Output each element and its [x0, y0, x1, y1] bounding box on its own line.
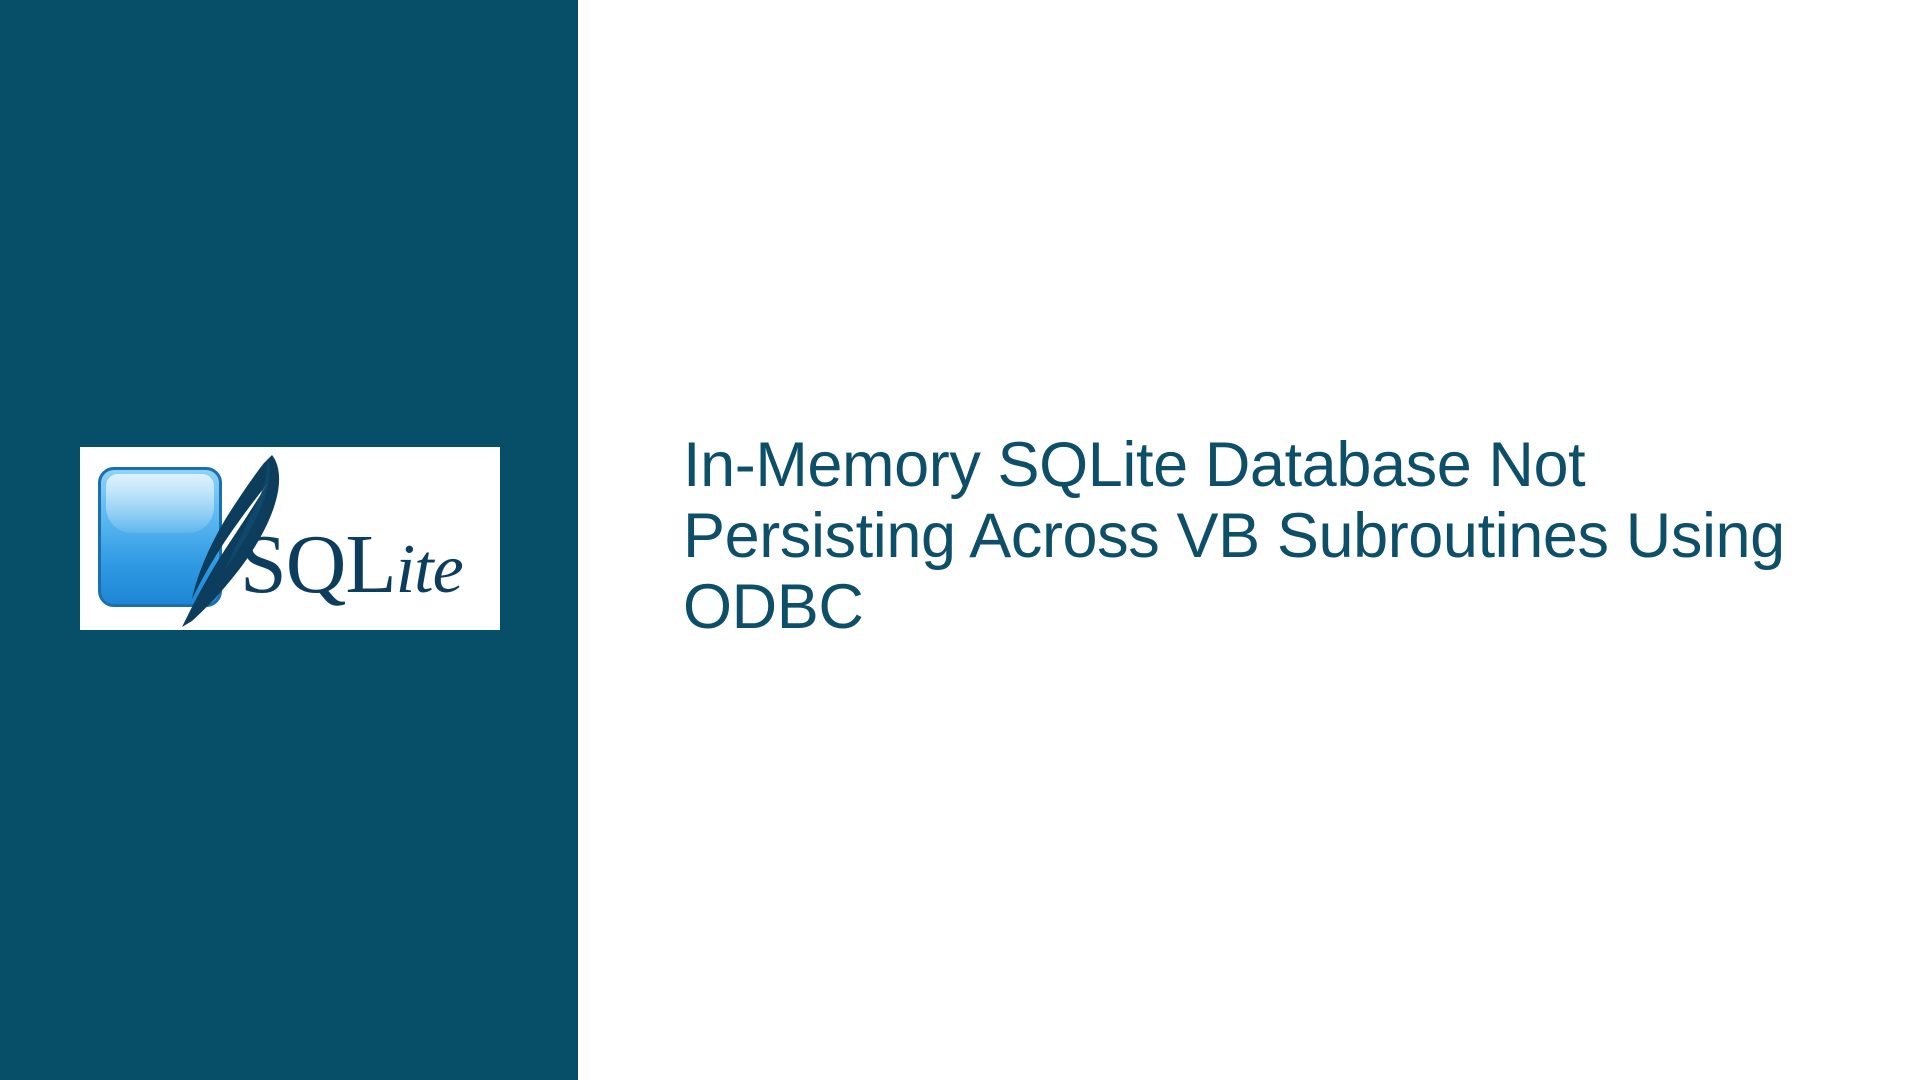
sqlite-logo-card: SQLite	[80, 447, 500, 630]
wordmark-ite: ite	[396, 531, 463, 608]
slide-canvas: SQLite In-Memory SQLite Database Not Per…	[0, 0, 1920, 1080]
sqlite-wordmark: SQLite	[240, 523, 463, 607]
page-title: In-Memory SQLite Database Not Persisting…	[683, 430, 1813, 644]
title-block: In-Memory SQLite Database Not Persisting…	[683, 430, 1813, 644]
sqlite-logo-icon: SQLite	[80, 447, 500, 630]
wordmark-sql: SQL	[240, 518, 396, 611]
